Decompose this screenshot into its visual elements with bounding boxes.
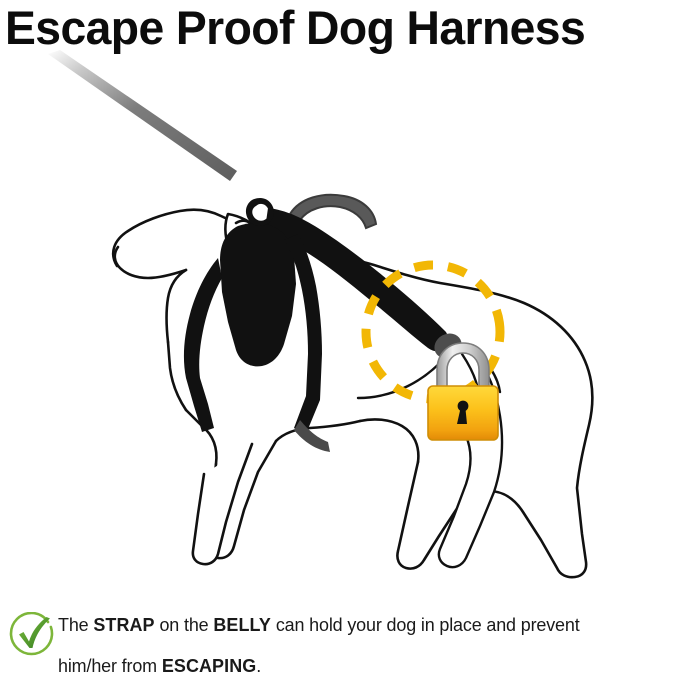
caption-line1-prefix: The [58,614,93,635]
caption-line2-suffix: . [256,655,261,676]
caption-line-1: The STRAP on the BELLY can hold your dog… [58,604,654,645]
caption-line2-prefix: him/her from [58,655,162,676]
gray-leash [48,50,237,181]
caption-block: The STRAP on the BELLY can hold your dog… [0,604,679,691]
green-check-icon [9,612,55,658]
caption-line-2: him/her from ESCAPING. [58,645,654,686]
caption-line1-mid: on the [155,614,214,635]
caption-line1-bold-belly: BELLY [213,614,271,635]
product-infographic-page: Escape Proof Dog Harness [0,0,679,691]
page-title: Escape Proof Dog Harness [5,1,665,55]
dog-harness-illustration [0,48,679,603]
caption-line1-bold-strap: STRAP [93,614,154,635]
caption-line2-bold-escaping: ESCAPING [162,655,256,676]
caption-line1-suffix: can hold your dog in place and prevent [271,614,580,635]
caption-text: The STRAP on the BELLY can hold your dog… [58,604,676,686]
